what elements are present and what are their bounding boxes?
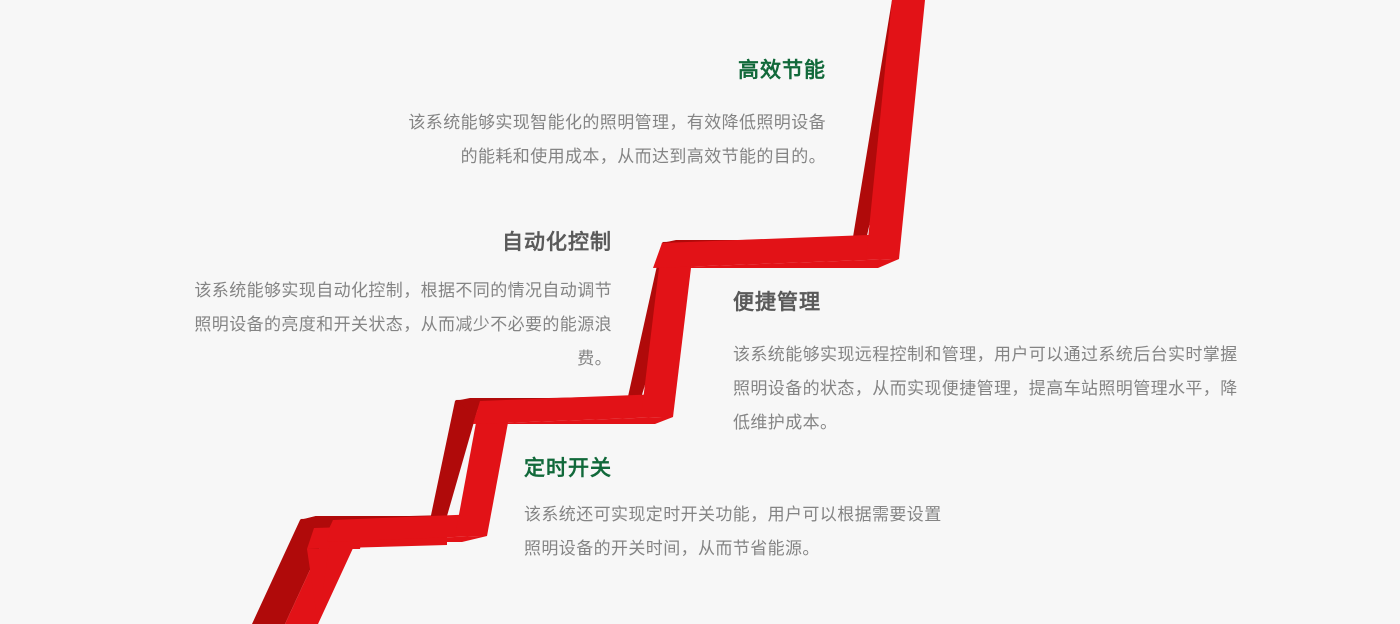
feature-block-automation: 自动化控制 该系统能够实现自动化控制，根据不同的情况自动调节照明设备的亮度和开关… [178,230,612,376]
feature-desc-management: 该系统能够实现远程控制和管理，用户可以通过系统后台实时掌握照明设备的状态，从而实… [733,338,1253,440]
feature-title-energy: 高效节能 [400,58,826,84]
feature-desc-timer: 该系统还可实现定时开关功能，用户可以根据需要设置照明设备的开关时间，从而节省能源… [524,498,954,566]
feature-title-timer: 定时开关 [524,456,954,482]
feature-block-timer: 定时开关 该系统还可实现定时开关功能，用户可以根据需要设置照明设备的开关时间，从… [524,456,954,566]
feature-desc-automation: 该系统能够实现自动化控制，根据不同的情况自动调节照明设备的亮度和开关状态，从而减… [178,274,612,376]
feature-desc-energy: 该系统能够实现智能化的照明管理，有效降低照明设备的能耗和使用成本，从而达到高效节… [400,106,826,174]
feature-block-energy: 高效节能 该系统能够实现智能化的照明管理，有效降低照明设备的能耗和使用成本，从而… [400,58,826,174]
feature-title-automation: 自动化控制 [178,230,612,256]
page-root: 高效节能 该系统能够实现智能化的照明管理，有效降低照明设备的能耗和使用成本，从而… [0,0,1400,624]
feature-block-management: 便捷管理 该系统能够实现远程控制和管理，用户可以通过系统后台实时掌握照明设备的状… [733,290,1253,440]
feature-title-management: 便捷管理 [733,290,1253,316]
